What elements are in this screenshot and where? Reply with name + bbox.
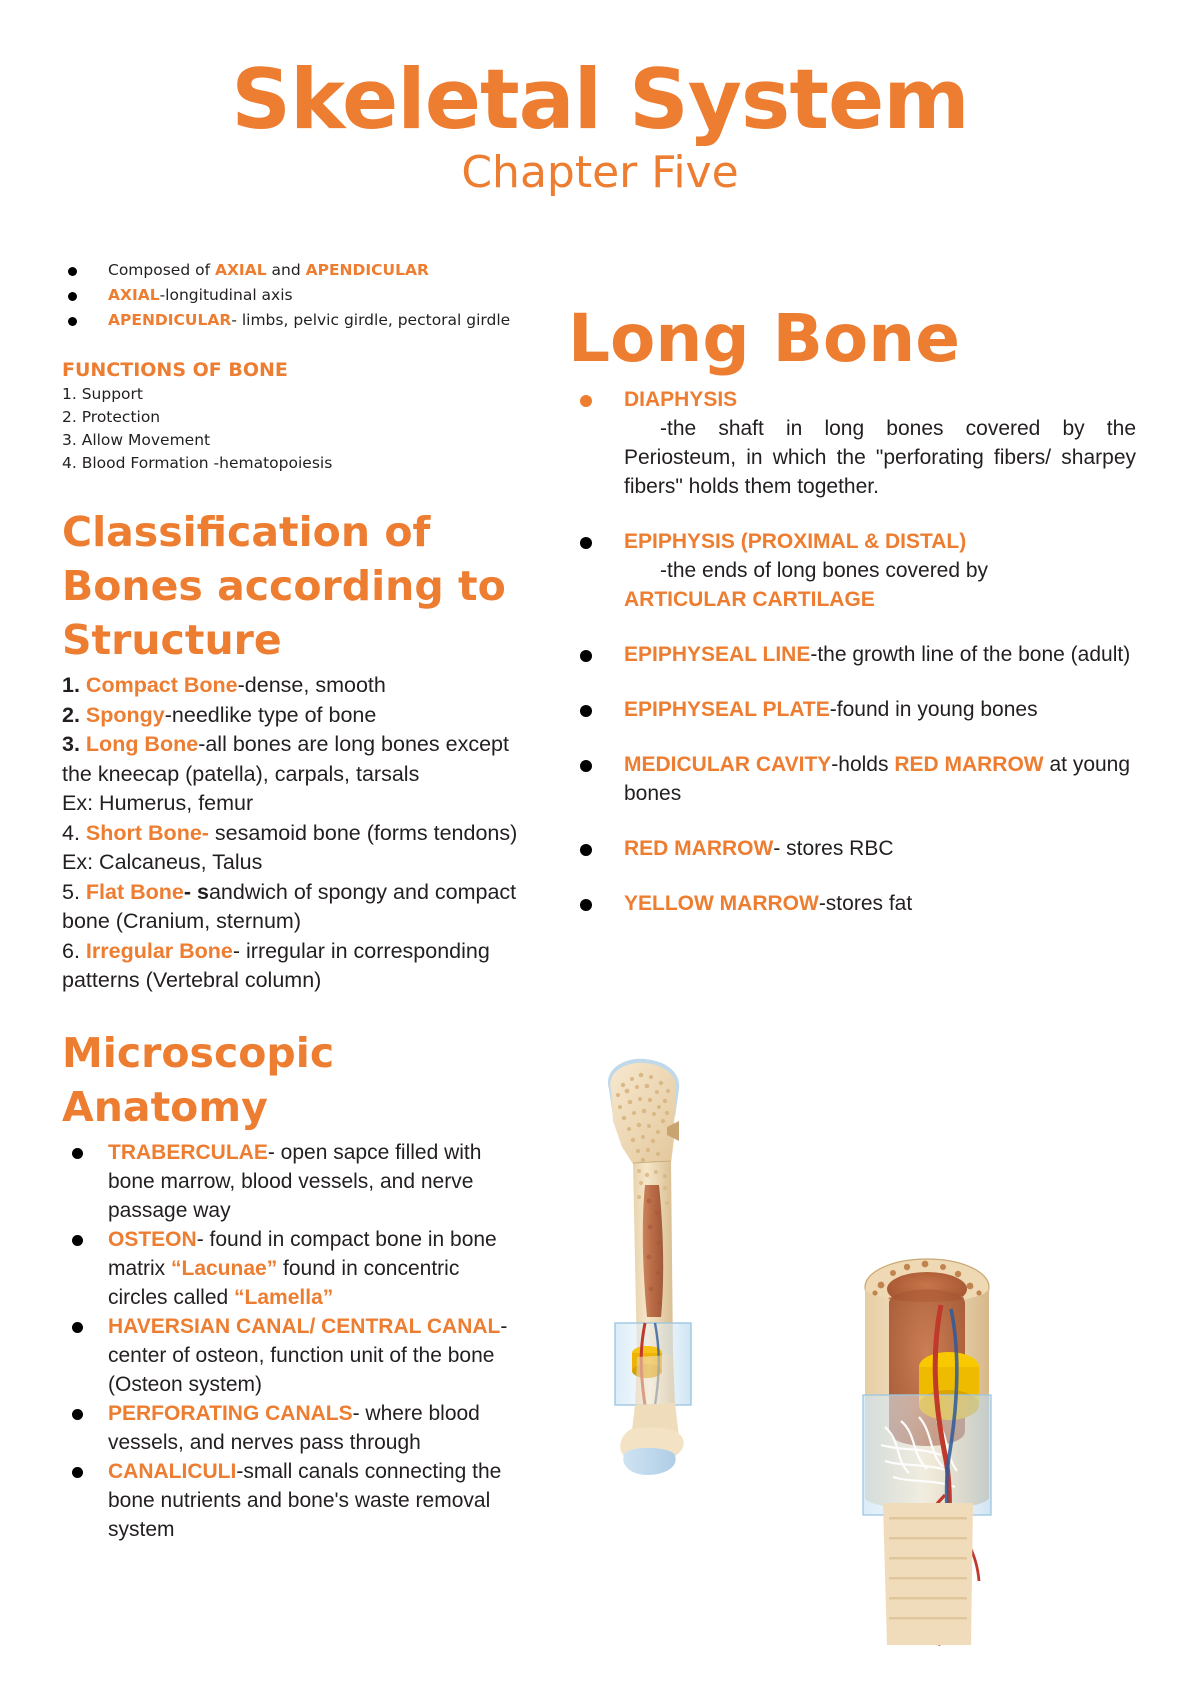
- page-subtitle: Chapter Five: [0, 149, 1200, 197]
- definition: -holds: [831, 753, 894, 776]
- list-item: 2. Spongy-needlike type of bone: [62, 701, 524, 731]
- term: YELLOW MARROW: [624, 892, 819, 915]
- list-item: OSTEON- found in compact bone in bone ma…: [62, 1225, 524, 1312]
- classification-list: 1. Compact Bone-dense, smooth 2. Spongy-…: [62, 671, 524, 996]
- list-index: 4.: [62, 821, 80, 845]
- bullet-text: - limbs, pelvic girdle, pectoral girdle: [231, 311, 510, 329]
- list-item: PERFORATING CANALS- where blood vessels,…: [62, 1399, 524, 1457]
- list-item: HAVERSIAN CANAL/ CENTRAL CANAL-center of…: [62, 1312, 524, 1399]
- list-item: 1. Support: [62, 383, 524, 406]
- list-item: EPIPHYSEAL PLATE-found in young bones: [568, 695, 1136, 724]
- list-item: Composed of AXIAL and APENDICULAR: [62, 258, 524, 283]
- list-item: Ex: Calcaneus, Talus: [62, 848, 524, 878]
- list-item: 2. Protection: [62, 406, 524, 429]
- list-item: MEDICULAR CAVITY-holds RED MARROW at you…: [568, 750, 1136, 808]
- compact-bone-cross-section-illustration: [845, 1245, 1010, 1645]
- list-item: TRABERCULAE- open sapce filled with bone…: [62, 1138, 524, 1225]
- list-item: 1. Compact Bone-dense, smooth: [62, 671, 524, 701]
- term: EPIPHYSEAL LINE: [624, 643, 810, 666]
- list-item: EPIPHYSEAL LINE-the growth line of the b…: [568, 640, 1136, 669]
- functions-list: 1. Support 2. Protection 3. Allow Moveme…: [62, 383, 524, 475]
- definition: -needlike type of bone: [165, 703, 377, 727]
- microscopic-list: TRABERCULAE- open sapce filled with bone…: [62, 1138, 524, 1544]
- term: Irregular Bone: [86, 939, 233, 963]
- list-item: RED MARROW- stores RBC: [568, 834, 1136, 863]
- bullet-text: and: [267, 261, 306, 279]
- list-item: APENDICULAR- limbs, pelvic girdle, pecto…: [62, 308, 524, 333]
- definition: -dense, smooth: [238, 673, 386, 697]
- functions-heading: FUNCTIONS OF BONE: [62, 359, 524, 381]
- bullet-text: -longitudinal axis: [160, 286, 293, 304]
- list-item: YELLOW MARROW-stores fat: [568, 889, 1136, 918]
- term: EPIPHYSEAL PLATE: [624, 698, 830, 721]
- term: PERFORATING CANALS: [108, 1402, 353, 1425]
- definition: -stores fat: [819, 892, 912, 915]
- list-item: 6. Irregular Bone- irregular in correspo…: [62, 937, 524, 996]
- list-index: 1.: [62, 673, 80, 697]
- definition: -the ends of long bones covered by: [624, 556, 1136, 585]
- term: EPIPHYSIS (PROXIMAL & DISTAL): [624, 530, 966, 553]
- list-index: 6.: [62, 939, 80, 963]
- right-column: Long Bone DIAPHYSIS -the shaft in long b…: [568, 300, 1136, 944]
- list-item: EPIPHYSIS (PROXIMAL & DISTAL) -the ends …: [568, 527, 1136, 614]
- term: HAVERSIAN CANAL/ CENTRAL CANAL: [108, 1315, 500, 1338]
- list-item: AXIAL-longitudinal axis: [62, 283, 524, 308]
- keyword: AXIAL: [215, 261, 267, 279]
- document-page: Skeletal System Chapter Five Composed of…: [0, 0, 1200, 1696]
- list-item: Ex: Humerus, femur: [62, 789, 524, 819]
- classification-heading: Classification of Bones according to Str…: [62, 505, 524, 667]
- list-item: DIAPHYSIS -the shaft in long bones cover…: [568, 385, 1136, 501]
- term: Compact Bone: [86, 673, 238, 697]
- list-index: 5.: [62, 880, 80, 904]
- long-bone-bullet-list: DIAPHYSIS -the shaft in long bones cover…: [568, 385, 1136, 918]
- term: CANALICULI: [108, 1460, 236, 1483]
- term: DIAPHYSIS: [624, 388, 737, 411]
- term: Long Bone: [86, 732, 198, 756]
- term: MEDICULAR CAVITY: [624, 753, 831, 776]
- accent-term: ARTICULAR CARTILAGE: [624, 585, 1136, 614]
- title-block: Skeletal System Chapter Five: [0, 0, 1200, 197]
- list-item: 3. Allow Movement: [62, 429, 524, 452]
- accent-term: RED MARROW: [894, 753, 1043, 776]
- left-column: Composed of AXIAL and APENDICULAR AXIAL-…: [62, 258, 524, 1544]
- term: TRABERCULAE: [108, 1141, 268, 1164]
- microscopic-heading: Microscopic Anatomy: [62, 1026, 524, 1134]
- list-item: 4. Short Bone- sesamoid bone (forms tend…: [62, 819, 524, 849]
- example-text: Ex: Humerus, femur: [62, 791, 253, 815]
- quoted-term: “Lacunae”: [171, 1257, 277, 1280]
- definition: -the shaft in long bones covered by the …: [624, 414, 1136, 501]
- intro-bullet-list: Composed of AXIAL and APENDICULAR AXIAL-…: [62, 258, 524, 333]
- example-text: Ex: Calcaneus, Talus: [62, 850, 262, 874]
- term: Flat Bone: [86, 880, 184, 904]
- bullet-text: Composed of: [108, 261, 215, 279]
- keyword: AXIAL: [108, 286, 160, 304]
- term: Short Bone-: [86, 821, 209, 845]
- term: OSTEON: [108, 1228, 197, 1251]
- definition: -the growth line of the bone (adult): [810, 643, 1130, 666]
- long-bone-heading: Long Bone: [568, 300, 1136, 377]
- list-item: CANALICULI-small canals connecting the b…: [62, 1457, 524, 1544]
- long-bone-cutaway-illustration: [575, 1055, 735, 1480]
- list-index: 3.: [62, 732, 80, 756]
- list-item: 5. Flat Bone- sandwich of spongy and com…: [62, 878, 524, 937]
- definition: sesamoid bone (forms tendons): [209, 821, 517, 845]
- term: Spongy: [86, 703, 165, 727]
- definition: -found in young bones: [830, 698, 1038, 721]
- definition: - stores RBC: [773, 837, 893, 860]
- page-title: Skeletal System: [0, 58, 1200, 143]
- quoted-term: “Lamella”: [234, 1286, 333, 1309]
- term: RED MARROW: [624, 837, 773, 860]
- list-item: 3. Long Bone-all bones are long bones ex…: [62, 730, 524, 789]
- list-index: 2.: [62, 703, 80, 727]
- list-item: 4. Blood Formation -hematopoiesis: [62, 452, 524, 475]
- definition-bold: - s: [184, 880, 209, 904]
- keyword: APENDICULAR: [306, 261, 429, 279]
- keyword: APENDICULAR: [108, 311, 231, 329]
